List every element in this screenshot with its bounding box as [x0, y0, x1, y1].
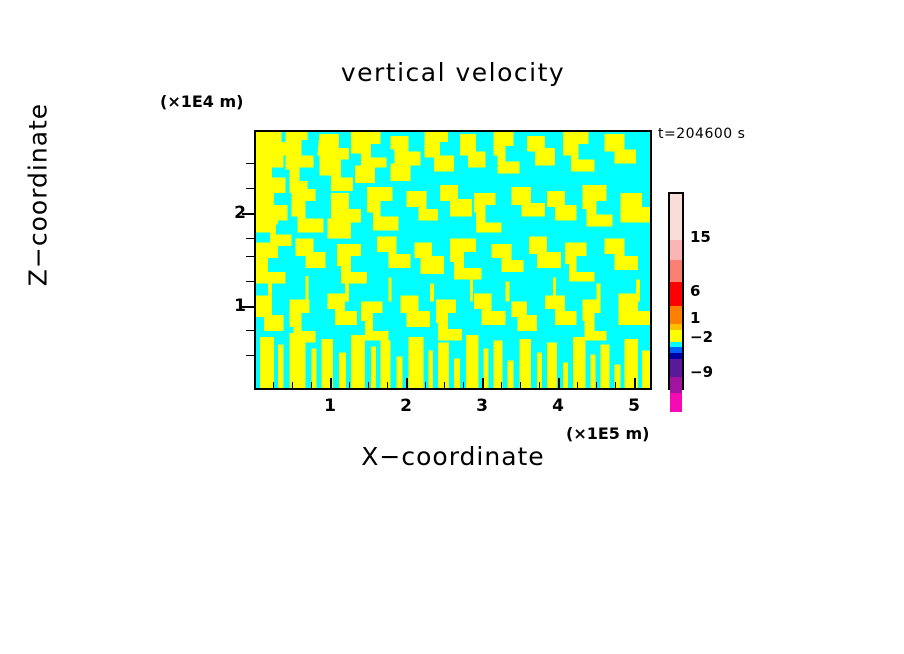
- x-minor-tick: [387, 382, 388, 390]
- colorbar-band: [670, 393, 682, 412]
- x-axis-unit-label: (×1E5 m): [566, 424, 649, 443]
- x-minor-tick: [349, 382, 350, 390]
- figure-canvas: vertical velocity (×1E4 m) t=204600 s: [0, 0, 904, 654]
- colorbar-band: [670, 306, 682, 324]
- y-axis-title: Z−coordinate: [24, 65, 53, 325]
- y-tick-label: 2: [234, 203, 246, 223]
- x-tick-label: 3: [476, 396, 488, 416]
- colorbar[interactable]: [668, 192, 684, 390]
- colorbar-tick-label: 15: [690, 228, 711, 246]
- x-minor-tick: [292, 382, 293, 390]
- y-minor-tick: [246, 256, 254, 257]
- colorbar-band: [670, 377, 682, 393]
- contour-plot-area[interactable]: [254, 130, 652, 390]
- x-tick-label: 2: [400, 396, 412, 416]
- colorbar-tick-label: −9: [690, 363, 713, 381]
- x-minor-tick: [577, 382, 578, 390]
- y-minor-tick: [246, 188, 254, 189]
- x-minor-tick: [444, 382, 445, 390]
- timestamp-annotation: t=204600 s: [658, 126, 745, 142]
- velocity-field-image: [256, 132, 650, 388]
- y-tick-label: 1: [234, 296, 246, 316]
- y-minor-tick: [246, 355, 254, 356]
- colorbar-tick-label: 1: [690, 309, 700, 327]
- x-minor-tick: [596, 382, 597, 390]
- x-minor-tick: [425, 382, 426, 390]
- x-minor-tick: [463, 382, 464, 390]
- x-axis-title: X−coordinate: [254, 442, 652, 471]
- colorbar-band: [670, 282, 682, 306]
- colorbar-band: [670, 330, 682, 342]
- x-tick-label: 1: [324, 396, 336, 416]
- x-tick-label: 4: [552, 396, 564, 416]
- x-major-tick: [482, 378, 484, 390]
- colorbar-tick-label: −2: [690, 328, 713, 346]
- y-minor-tick: [246, 238, 254, 239]
- x-tick-label: 5: [628, 396, 640, 416]
- x-minor-tick: [615, 382, 616, 390]
- x-major-tick: [406, 378, 408, 390]
- x-minor-tick: [311, 382, 312, 390]
- x-minor-tick: [539, 382, 540, 390]
- x-minor-tick: [368, 382, 369, 390]
- x-major-tick: [634, 378, 636, 390]
- colorbar-band: [670, 260, 682, 282]
- x-minor-tick: [273, 382, 274, 390]
- colorbar-band: [670, 240, 682, 260]
- chart-title: vertical velocity: [254, 58, 652, 87]
- colorbar-band: [670, 194, 682, 240]
- x-minor-tick: [501, 382, 502, 390]
- y-minor-tick: [246, 163, 254, 164]
- x-major-tick: [330, 378, 332, 390]
- colorbar-band: [670, 359, 682, 377]
- x-minor-tick: [520, 382, 521, 390]
- y-minor-tick: [246, 281, 254, 282]
- x-major-tick: [558, 378, 560, 390]
- y-minor-tick: [246, 330, 254, 331]
- colorbar-tick-label: 6: [690, 282, 700, 300]
- y-axis-unit-label: (×1E4 m): [160, 92, 243, 111]
